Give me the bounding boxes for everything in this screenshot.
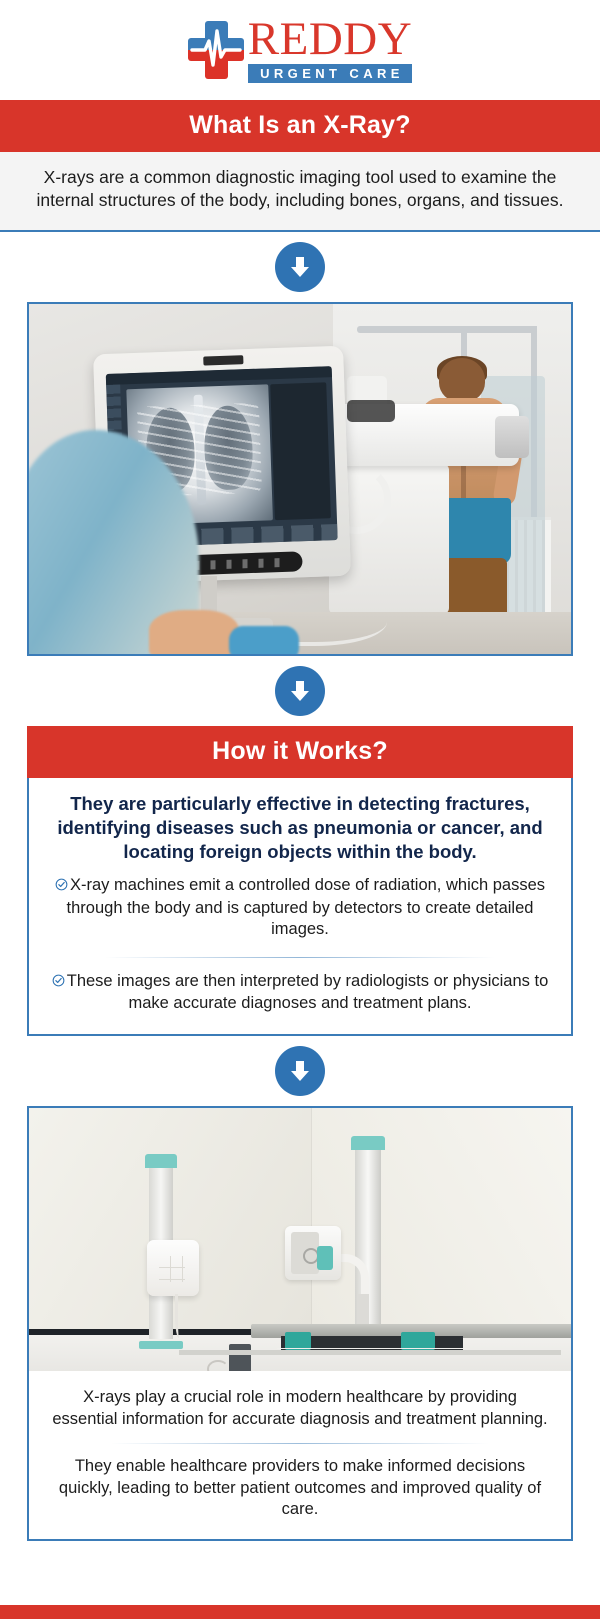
ekg-line-icon bbox=[188, 21, 244, 79]
arrow-down-glyph bbox=[287, 254, 313, 280]
works-divider bbox=[105, 957, 495, 958]
works-bullet-two-text: These images are then interpreted by rad… bbox=[67, 972, 549, 1012]
logo[interactable]: REDDY URGENT CARE bbox=[188, 17, 412, 83]
photo-xray-monitor-patient bbox=[27, 302, 573, 656]
section-one-body: X-rays are a common diagnostic imaging t… bbox=[0, 152, 600, 232]
brand-name: REDDY bbox=[248, 17, 412, 62]
section-two-banner: How it Works? bbox=[27, 726, 573, 778]
works-bullet-one-text: X-ray machines emit a controlled dose of… bbox=[67, 876, 545, 938]
arrow-down-glyph bbox=[287, 1058, 313, 1084]
conclusion-divider bbox=[111, 1443, 489, 1444]
check-circle-icon bbox=[55, 876, 68, 897]
conclusion-block: X-rays play a crucial role in modern hea… bbox=[27, 1371, 573, 1540]
works-lead-text: They are particularly effective in detec… bbox=[47, 790, 553, 873]
conclusion-paragraph-two: They enable healthcare providers to make… bbox=[51, 1456, 549, 1520]
arrow-down-circle-icon bbox=[275, 1046, 325, 1096]
section-two-body: They are particularly effective in detec… bbox=[27, 778, 573, 1036]
medical-cross-ekg-icon bbox=[188, 21, 244, 79]
arrow-down-circle-icon bbox=[275, 666, 325, 716]
arrow-down-circle-icon bbox=[275, 242, 325, 292]
arrow-divider-three bbox=[0, 1036, 600, 1106]
conclusion-paragraph-one: X-rays play a crucial role in modern hea… bbox=[51, 1387, 549, 1430]
photo-xray-room bbox=[27, 1106, 573, 1371]
brand-header: REDDY URGENT CARE bbox=[0, 0, 600, 100]
footer-bar bbox=[0, 1605, 600, 1619]
brand-tagline: URGENT CARE bbox=[248, 64, 412, 83]
bottom-spacer bbox=[0, 1541, 600, 1559]
check-circle-icon bbox=[52, 972, 65, 993]
arrow-divider-two bbox=[0, 656, 600, 726]
works-bullet-two: These images are then interpreted by rad… bbox=[47, 969, 553, 1019]
intro-paragraph: X-rays are a common diagnostic imaging t… bbox=[30, 166, 570, 212]
arrow-divider-one bbox=[0, 232, 600, 302]
works-bullet-one: X-ray machines emit a controlled dose of… bbox=[47, 873, 553, 944]
arrow-down-glyph bbox=[287, 678, 313, 704]
section-one-banner: What Is an X-Ray? bbox=[0, 100, 600, 152]
